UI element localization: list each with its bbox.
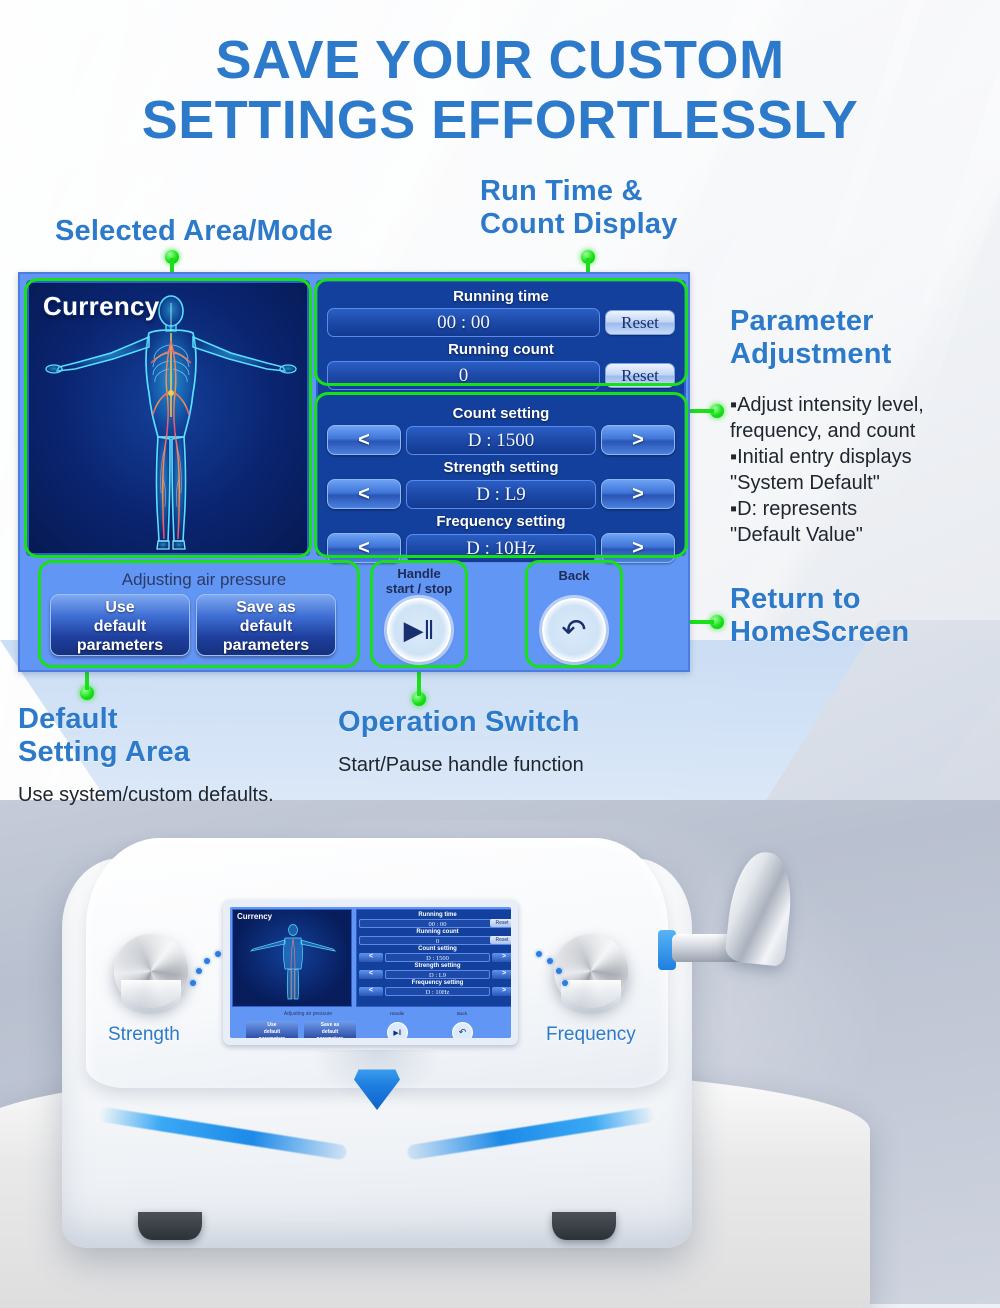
control-screen: Running time 00 : 00 Reset Running count… [316, 280, 686, 556]
headline-line-1: SAVE YOUR CUSTOM [0, 30, 1000, 90]
frequency-setting-decrease-button[interactable]: < [327, 533, 401, 563]
mini-save-default-l1: Save as [304, 1022, 356, 1029]
annotation-parameter-title: Parameter Adjustment [730, 305, 892, 371]
mini-play-pause-icon: ▶‖ [393, 1029, 401, 1037]
selected-area-screen[interactable]: Currency [26, 280, 310, 556]
mini-handle-start-stop-button[interactable]: ▶‖ [387, 1022, 408, 1038]
parameter-bullet-3-text: D: represents [737, 498, 857, 520]
annotation-operation-switch-title: Operation Switch [338, 706, 580, 739]
therapy-machine: Strength Frequency Currency [62, 838, 692, 1258]
mini-running-time-value: 00 : 00 [359, 919, 511, 928]
mini-bottom-bar: Adjusting air pressure Use default param… [232, 1009, 511, 1038]
mini-frequency-value: D : 10Hz [385, 987, 490, 996]
back-button[interactable]: ↶ [542, 598, 606, 662]
strength-setting-row: < D : L9 > [327, 479, 675, 509]
frequency-setting-increase-button[interactable]: > [601, 533, 675, 563]
parameter-bullet-2-cont: "System Default" [730, 470, 998, 496]
device-ui-panel: Currency [18, 272, 690, 672]
annotation-default-setting-title: Default Setting Area [18, 703, 190, 769]
connector-line-return-home [690, 620, 714, 624]
device-photo: Strength Frequency Currency [0, 800, 1000, 1304]
mini-human-body-icon [233, 918, 353, 1004]
annotation-return-home-title: Return to HomeScreen [730, 583, 909, 649]
save-default-line-3: parameters [197, 636, 335, 655]
annotation-run-time-line-2: Count Display [480, 208, 678, 241]
back-label: Back [514, 568, 634, 583]
annotation-default-setting-line-1: Default [18, 703, 190, 736]
strength-setting-increase-button[interactable]: > [601, 479, 675, 509]
mini-count-increase[interactable]: > [492, 953, 511, 962]
mini-air-pressure-label: Adjusting air pressure [248, 1011, 368, 1017]
handle-label-line-2: start / stop [359, 581, 479, 596]
strength-knob-label: Strength [108, 1024, 180, 1046]
count-setting-decrease-button[interactable]: < [327, 425, 401, 455]
count-setting-increase-button[interactable]: > [601, 425, 675, 455]
count-setting-value: D : 1500 [406, 426, 596, 455]
running-count-reset-button[interactable]: Reset [605, 363, 675, 388]
annotation-default-setting-line-2: Setting Area [18, 736, 190, 769]
machine-screen[interactable]: Currency [223, 900, 518, 1045]
connector-line-parameter [690, 409, 714, 413]
frequency-setting-value: D : 10Hz [406, 534, 596, 563]
parameter-bullet-1-text: Adjust intensity level, [737, 394, 924, 416]
save-as-default-parameters-button[interactable]: Save as default parameters [196, 594, 336, 656]
strength-setting-label: Strength setting [327, 458, 675, 477]
handle-label-line-1: Handle [359, 566, 479, 581]
mini-running-count-label: Running count [359, 928, 511, 936]
annotation-return-home-line-1: Return to [730, 583, 909, 616]
handle-start-stop-button[interactable]: ▶‖ [387, 598, 451, 662]
panel-bottom-bar: Adjusting air pressure Use default param… [20, 562, 692, 672]
save-default-line-1: Save as [197, 598, 335, 617]
run-time-count-group: Running time 00 : 00 Reset Running count… [323, 285, 679, 396]
page-title: SAVE YOUR CUSTOM SETTINGS EFFORTLESSLY [0, 30, 1000, 150]
annotation-parameter-body: ▪Adjust intensity level, frequency, and … [730, 392, 998, 548]
running-time-label: Running time [327, 287, 675, 306]
annotation-operation-switch-body: Start/Pause handle function [338, 752, 584, 778]
strength-setting-decrease-button[interactable]: < [327, 479, 401, 509]
frequency-setting-label: Frequency setting [327, 512, 675, 531]
mini-save-default-l3: parameters [304, 1036, 356, 1038]
handle-start-stop-label: Handle start / stop [359, 566, 479, 596]
count-setting-row: < D : 1500 > [327, 425, 675, 455]
annotation-parameter-line-1: Parameter [730, 305, 892, 338]
frequency-knob-dots [520, 942, 566, 998]
annotation-run-time-line-1: Run Time & [480, 175, 678, 208]
mode-label: Currency [43, 291, 160, 322]
mini-count-decrease[interactable]: < [359, 953, 383, 962]
parameter-bullet-3: ▪D: represents [730, 496, 998, 522]
machine-screen-content: Currency [230, 907, 511, 1038]
mini-back-label: Back [442, 1011, 482, 1016]
running-count-label: Running count [327, 340, 675, 359]
running-count-value: 0 [327, 361, 600, 390]
mini-strength-increase[interactable]: > [492, 970, 511, 979]
mini-use-default-button[interactable]: Use default parameters [246, 1021, 298, 1038]
mini-frequency-decrease[interactable]: < [359, 987, 383, 996]
headline-line-2: SETTINGS EFFORTLESSLY [0, 90, 1000, 150]
running-time-value: 00 : 00 [327, 308, 600, 337]
strength-knob[interactable] [114, 934, 188, 1008]
use-default-parameters-button[interactable]: Use default parameters [50, 594, 190, 656]
count-setting-label: Count setting [327, 404, 675, 423]
machine-foot-right [552, 1212, 616, 1240]
parameter-bullet-1-cont: frequency, and count [730, 418, 998, 444]
mini-frequency-increase[interactable]: > [492, 987, 511, 996]
mini-save-default-button[interactable]: Save as default parameters [304, 1021, 356, 1038]
use-default-line-2: default [51, 617, 189, 636]
air-pressure-label: Adjusting air pressure [54, 570, 354, 590]
annotation-selected-area-title: Selected Area/Mode [55, 215, 333, 248]
mini-count-setting-label: Count setting [359, 945, 511, 953]
mini-use-default-l2: default [246, 1029, 298, 1036]
annotation-run-time-title: Run Time & Count Display [480, 175, 678, 241]
annotation-parameter-line-2: Adjustment [730, 338, 892, 371]
mini-count-value: D : 1500 [385, 953, 490, 962]
frequency-setting-row: < D : 10Hz > [327, 533, 675, 563]
mini-back-button[interactable]: ↶ [452, 1022, 473, 1038]
save-default-line-2: default [197, 617, 335, 636]
mini-control-screen: Running time 00 : 00 Reset Running count… [356, 909, 511, 1007]
mini-back-text: Back [457, 1011, 467, 1016]
mini-strength-decrease[interactable]: < [359, 970, 383, 979]
mini-frequency-setting-label: Frequency setting [359, 979, 511, 987]
back-arrow-icon: ↶ [561, 613, 586, 648]
mini-save-default-l2: default [304, 1029, 356, 1036]
mini-running-count-reset[interactable]: Reset [490, 936, 511, 944]
running-time-reset-button[interactable]: Reset [605, 310, 675, 335]
running-time-row: 00 : 00 Reset [327, 308, 675, 337]
frequency-knob-label: Frequency [546, 1024, 636, 1046]
play-pause-icon: ▶‖ [404, 615, 435, 646]
machine-foot-left [138, 1212, 202, 1240]
use-default-line-1: Use [51, 598, 189, 617]
mini-running-time-label: Running time [359, 911, 511, 919]
parameter-bullet-1: ▪Adjust intensity level, [730, 392, 998, 418]
parameter-bullet-2: ▪Initial entry displays [730, 444, 998, 470]
parameter-bullet-2-text: Initial entry displays [737, 446, 912, 468]
handle-applicator[interactable] [724, 849, 795, 967]
mini-strength-setting-label: Strength setting [359, 962, 511, 970]
parameter-settings-group: Count setting < D : 1500 > Strength sett… [323, 402, 679, 568]
mini-running-time-reset[interactable]: Reset [490, 919, 511, 927]
strength-setting-value: D : L9 [406, 480, 596, 509]
running-count-row: 0 Reset [327, 361, 675, 390]
human-body-anatomy-icon [29, 289, 310, 556]
mini-use-default-l1: Use [246, 1022, 298, 1029]
mini-handle-l1: Handle [390, 1011, 404, 1016]
mini-back-arrow-icon: ↶ [459, 1027, 467, 1038]
use-default-line-3: parameters [51, 636, 189, 655]
parameter-bullet-3-cont: "Default Value" [730, 522, 998, 548]
mini-running-count-value: 0 [359, 936, 511, 945]
annotation-return-home-line-2: HomeScreen [730, 616, 909, 649]
mini-strength-value: D : L9 [385, 970, 490, 979]
mini-use-default-l3: parameters [246, 1036, 298, 1038]
mini-selected-area-screen: Currency [232, 909, 352, 1007]
mini-handle-label: Handle [377, 1011, 417, 1016]
